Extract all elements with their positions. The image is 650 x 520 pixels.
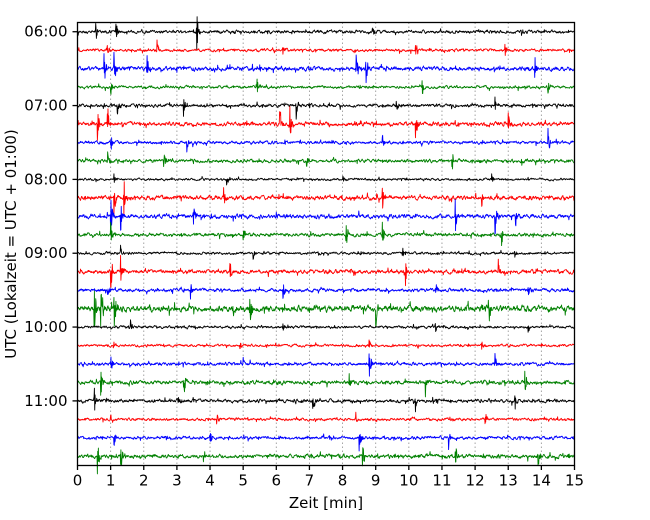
y-tick-label: 10:00	[24, 318, 67, 336]
x-tick-label: 11	[432, 472, 451, 490]
x-tick-label: 1	[106, 472, 116, 490]
y-tick-label: 09:00	[24, 244, 67, 262]
y-tick-label: 08:00	[24, 170, 67, 188]
x-tick-label: 2	[139, 472, 149, 490]
y-tick-label: 06:00	[24, 23, 67, 41]
x-tick-label: 4	[205, 472, 215, 490]
x-tick-label: 7	[305, 472, 315, 490]
figure-background	[0, 0, 650, 520]
x-tick-label: 5	[238, 472, 248, 490]
seismogram-plot: 0123456789101112131415 06:0007:0008:0009…	[0, 0, 650, 520]
x-tick-label: 10	[399, 472, 418, 490]
y-tick-label: 11:00	[24, 392, 67, 410]
x-tick-label: 6	[272, 472, 282, 490]
x-tick-label: 14	[532, 472, 551, 490]
x-tick-label: 9	[371, 472, 381, 490]
x-axis-label: Zeit [min]	[289, 494, 363, 512]
x-tick-label: 15	[565, 472, 584, 490]
seismogram-figure: 0123456789101112131415 06:0007:0008:0009…	[0, 0, 650, 520]
y-axis-label: UTC (Lokalzeit = UTC + 01:00)	[2, 129, 20, 359]
x-tick-label: 3	[172, 472, 182, 490]
x-tick-label: 12	[466, 472, 485, 490]
x-tick-label: 8	[338, 472, 348, 490]
x-tick-label: 0	[73, 472, 83, 490]
x-tick-label: 13	[499, 472, 518, 490]
y-tick-label: 07:00	[24, 97, 67, 115]
